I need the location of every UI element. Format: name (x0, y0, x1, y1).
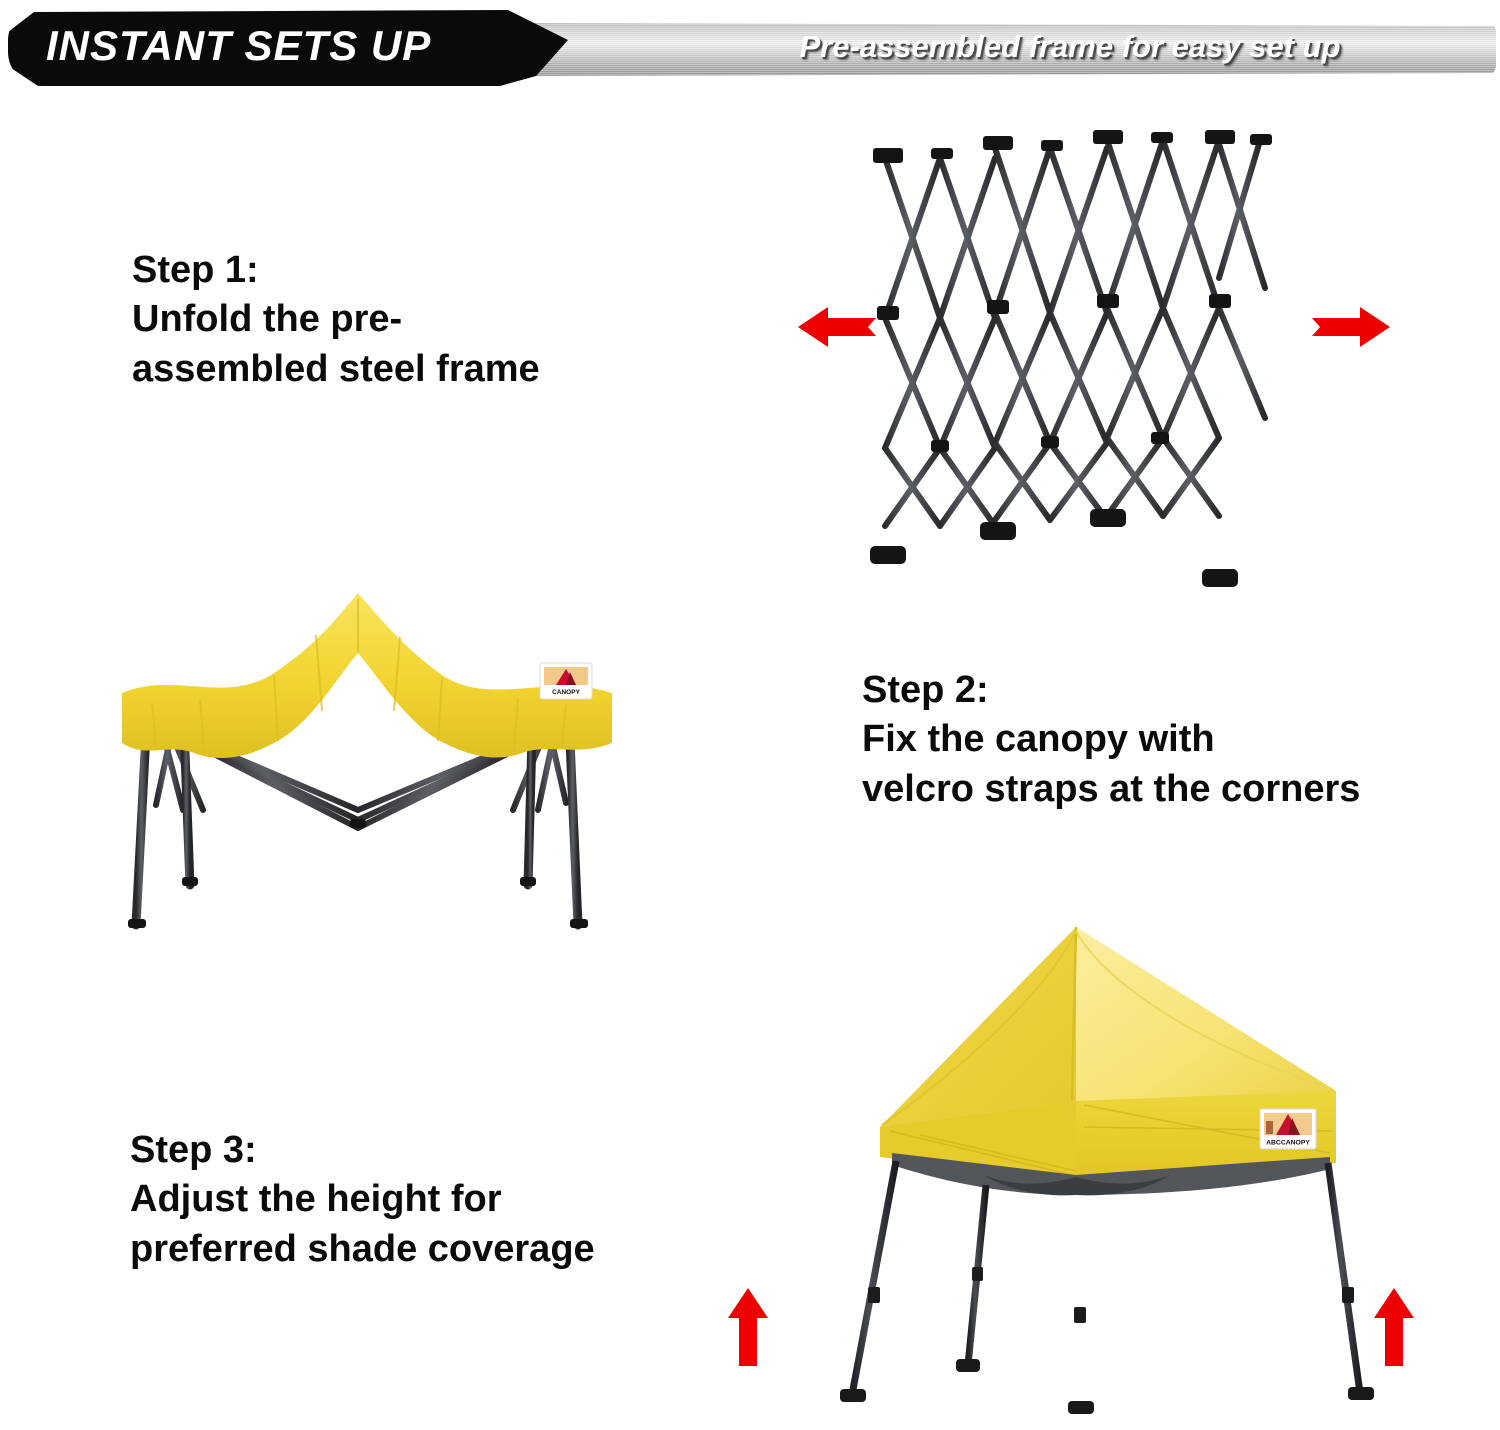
canopy-draped-on-frame-illustration: CANOPY (108, 575, 638, 940)
folded-steel-frame-illustration (845, 118, 1275, 588)
assembled-canopy-tent-illustration: ABCCANOPY (740, 895, 1400, 1415)
banner-subtitle: Pre-assembled frame for easy set up (660, 29, 1480, 65)
svg-text:CANOPY: CANOPY (552, 689, 580, 696)
arrow-right-icon (1312, 305, 1390, 349)
svg-text:ABCCANOPY: ABCCANOPY (1266, 1140, 1310, 1147)
header-banner: INSTANT SETS UP Pre-assembled frame for … (0, 8, 1500, 86)
step-1-text: Step 1: Unfold the pre- assembled steel … (132, 246, 540, 394)
step-3-text: Step 3: Adjust the height for preferred … (130, 1126, 595, 1274)
step-2-text: Step 2: Fix the canopy with velcro strap… (862, 666, 1360, 814)
banner-title: INSTANT SETS UP (46, 22, 526, 70)
